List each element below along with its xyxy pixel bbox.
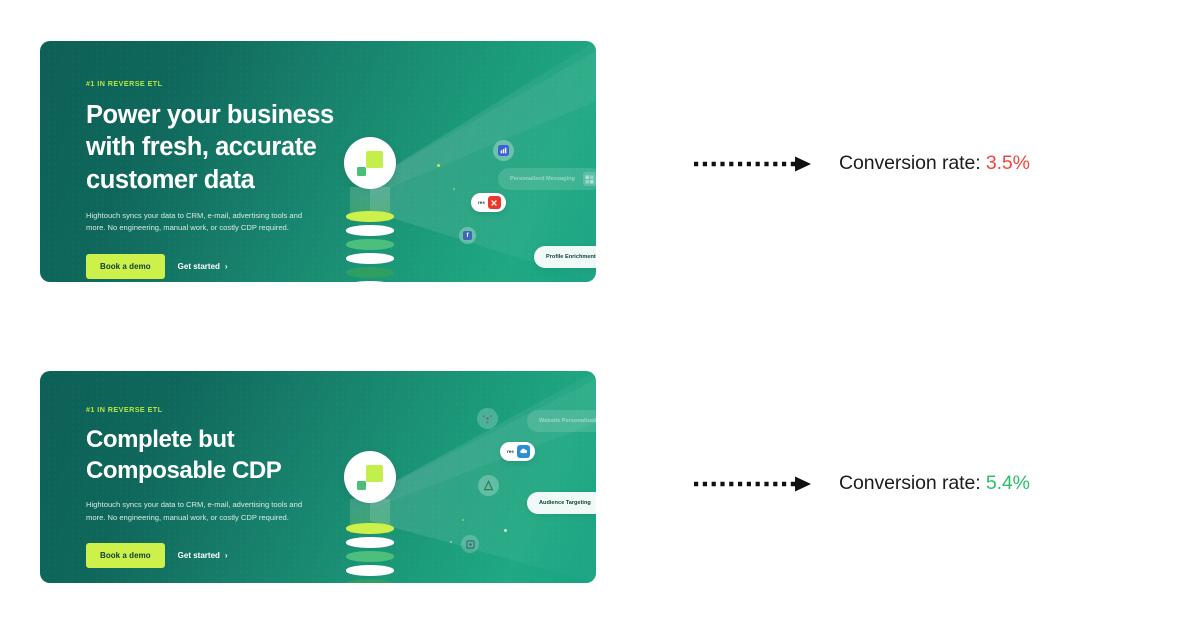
mini-pill-label: res — [507, 449, 514, 454]
metric-label-text: Conversion rate: — [839, 152, 981, 174]
spark-dot — [462, 519, 464, 521]
metric-block-b: Conversion rate: 5.4% — [692, 472, 1030, 495]
box-icon — [461, 535, 479, 553]
braze-icon — [477, 408, 498, 429]
dotted-arrow-right-icon — [692, 474, 815, 494]
pill-profile-enrichment: Profile Enrichment — [534, 246, 596, 268]
spark-dot — [453, 188, 455, 190]
variant-row-b: #1 IN REVERSE ETL Complete but Composabl… — [40, 371, 596, 583]
metric-label-text: Conversion rate: — [839, 472, 981, 494]
banner-copy-b: #1 IN REVERSE ETL Complete but Composabl… — [86, 405, 318, 568]
conversion-rate-metric: Conversion rate: 5.4% — [839, 472, 1030, 495]
dotted-arrow-right-icon — [692, 154, 815, 174]
conversion-rate-metric: Conversion rate: 3.5% — [839, 152, 1030, 175]
comparison-stage: #1 IN REVERSE ETL Power your business wi… — [0, 0, 1200, 627]
chevron-right-icon: › — [225, 262, 228, 271]
spark-dot — [437, 164, 440, 167]
eyebrow-label: #1 IN REVERSE ETL — [86, 405, 318, 414]
headline-line: Complete but — [86, 425, 318, 456]
spark-dot — [367, 219, 370, 222]
database-cylinder-icon — [346, 211, 394, 282]
mini-pill-label: res — [478, 200, 485, 205]
pill-label: Audience Targeting — [539, 500, 591, 506]
get-started-link[interactable]: Get started › — [178, 551, 228, 560]
grid-app-icon — [583, 172, 596, 186]
headline-line: with fresh, accurate — [86, 131, 334, 163]
pill-label: Personalized Messaging — [510, 176, 575, 182]
pill-audience-targeting: Audience Targeting f — [527, 492, 596, 514]
red-app-icon — [488, 196, 501, 209]
blue-chart-app-icon — [493, 140, 514, 161]
metric-block-a: Conversion rate: 3.5% — [692, 152, 1030, 175]
hightouch-logo-icon — [344, 451, 396, 503]
banner-copy-a: #1 IN REVERSE ETL Power your business wi… — [86, 79, 334, 279]
pill-personalized-messaging: Personalized Messaging — [498, 168, 596, 190]
landing-banner-a[interactable]: #1 IN REVERSE ETL Power your business wi… — [40, 41, 596, 282]
cta-group: Book a demo Get started › — [86, 254, 334, 279]
headline-line: customer data — [86, 164, 334, 196]
eyebrow-label: #1 IN REVERSE ETL — [86, 79, 334, 88]
page-title: Complete but Composable CDP — [86, 425, 318, 486]
pill-website-personalization: Website Personalization — [527, 410, 596, 432]
metric-value: 3.5% — [986, 152, 1030, 174]
headline-line: Composable CDP — [86, 456, 318, 487]
integration-mini-pill: res — [471, 193, 506, 212]
pill-label: Website Personalization — [539, 418, 596, 424]
banner-subcopy: Hightouch syncs your data to CRM, e-mail… — [86, 210, 318, 235]
banner-subcopy: Hightouch syncs your data to CRM, e-mail… — [86, 499, 318, 524]
cta-group: Book a demo Get started › — [86, 543, 318, 568]
spark-dot — [504, 529, 507, 532]
blue-cloud-icon — [517, 445, 530, 458]
hightouch-logo-icon — [344, 137, 396, 189]
get-started-link[interactable]: Get started › — [178, 262, 228, 271]
landing-banner-b[interactable]: #1 IN REVERSE ETL Complete but Composabl… — [40, 371, 596, 583]
database-cylinder-icon — [346, 523, 394, 583]
page-title: Power your business with fresh, accurate… — [86, 99, 334, 196]
facebook-icon: f — [459, 227, 476, 244]
get-started-label: Get started — [178, 551, 220, 560]
pill-label: Profile Enrichment — [546, 254, 596, 260]
book-a-demo-button[interactable]: Book a demo — [86, 543, 165, 568]
metric-value: 5.4% — [986, 472, 1030, 494]
spark-dot — [367, 531, 370, 534]
spark-dot — [450, 541, 452, 543]
get-started-label: Get started — [178, 262, 220, 271]
headline-line: Power your business — [86, 99, 334, 131]
amplitude-icon — [478, 475, 499, 496]
book-a-demo-button[interactable]: Book a demo — [86, 254, 165, 279]
integration-mini-pill: res — [500, 442, 535, 461]
variant-row-a: #1 IN REVERSE ETL Power your business wi… — [40, 41, 596, 282]
chevron-right-icon: › — [225, 551, 228, 560]
